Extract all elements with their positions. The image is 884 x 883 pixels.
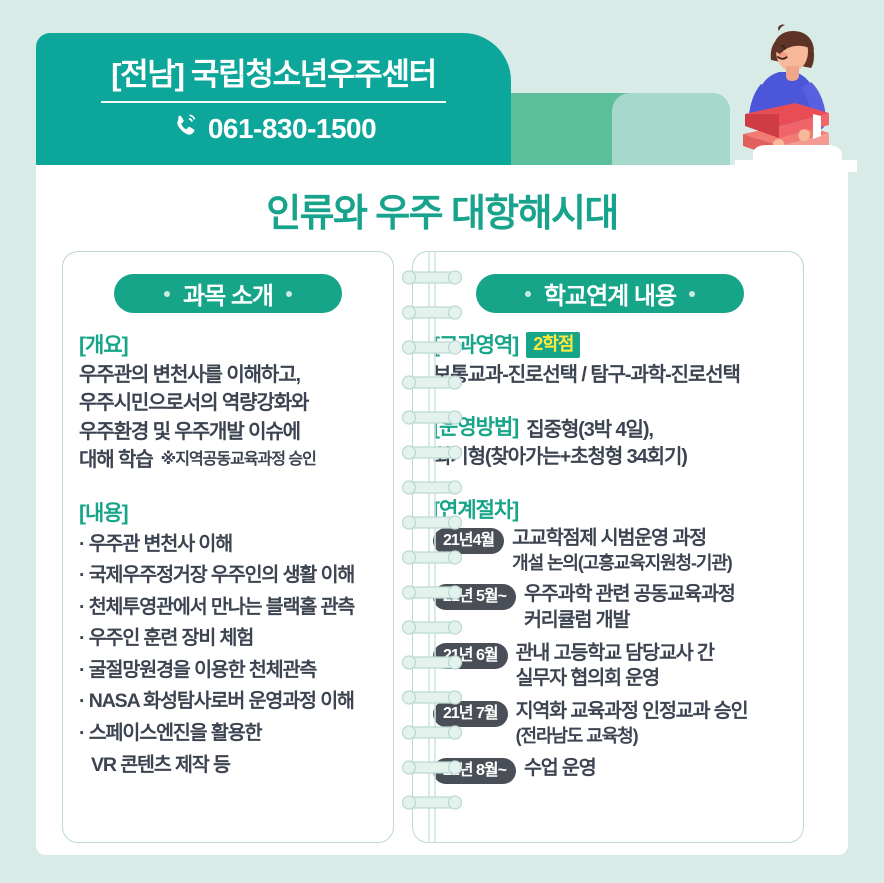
timeline-text-line-2: (전라남도 교육청) bbox=[516, 725, 748, 749]
overview-heading: [개요] bbox=[79, 329, 377, 359]
overview-line-4: 대해 학습 ※지역공동교육과정 승인 bbox=[79, 446, 377, 474]
overview-line-4-main: 대해 학습 bbox=[79, 446, 153, 474]
dot-icon-right bbox=[689, 291, 695, 297]
timeline-item: 21년4월 고교학점제 시범운영 과정 개설 논의(고흥교육지원청-기관) bbox=[433, 526, 787, 575]
panels-container: 과목 소개 [개요] 우주관의 변천사를 이해하고, 우주시민으로서의 역량강화… bbox=[62, 251, 822, 843]
timeline-date-badge: 21년 6월 bbox=[433, 643, 508, 669]
content-item-5: · 굴절망원경을 이용한 천체관측 bbox=[79, 655, 377, 687]
operation-value: 집중형(3박 4일), bbox=[526, 413, 653, 442]
dot-icon-right bbox=[286, 291, 292, 297]
timeline-date-badge: 21년 7월 bbox=[433, 701, 508, 727]
timeline-text: 관내 고등학교 담당교사 간 실무자 협의회 운영 bbox=[516, 641, 714, 692]
timeline-text-line-1: 고교학점제 시범운영 과정 bbox=[512, 526, 732, 552]
timeline-date-badge: 21년 5월~ bbox=[433, 584, 516, 610]
overview-line-2: 우주시민으로서의 역량강화와 bbox=[79, 389, 377, 417]
timeline-text: 지역화 교육과정 인정교과 승인 (전라남도 교육청) bbox=[516, 699, 748, 748]
timeline-date-badge: 21년4월 bbox=[433, 528, 504, 554]
content-item-4: · 우주인 훈련 장비 체험 bbox=[79, 623, 377, 655]
timeline-item: 21년 5월~ 우주과학 관련 공동교육과정 커리큘럼 개발 bbox=[433, 582, 787, 633]
phone-ringing-icon bbox=[171, 111, 201, 146]
subject-area-row: [교과영역] 2학점 bbox=[433, 329, 787, 361]
content-card: 인류와 우주 대항해시대 과목 소개 [개요] 우주관의 변천사를 이해하고, … bbox=[36, 165, 848, 855]
timeline-text: 수업 운영 bbox=[524, 756, 596, 782]
credit-badge: 2학점 bbox=[526, 332, 580, 358]
timeline-date-badge: 21년 8월~ bbox=[433, 758, 516, 784]
timeline-text: 고교학점제 시범운영 과정 개설 논의(고흥교육지원청-기관) bbox=[512, 526, 732, 575]
dot-icon-left bbox=[525, 291, 531, 297]
subject-area-detail: 보통교과-진로선택 / 탐구-과학-진로선택 bbox=[433, 361, 787, 389]
panel-subject-intro: 과목 소개 [개요] 우주관의 변천사를 이해하고, 우주시민으로서의 역량강화… bbox=[62, 251, 394, 843]
operation-row: [운영방법] 집중형(3박 4일), bbox=[433, 411, 787, 443]
process-heading: [연계절차] bbox=[433, 494, 787, 524]
phone-number: 061-830-1500 bbox=[208, 113, 376, 145]
operation-heading: [운영방법] bbox=[433, 411, 518, 441]
phone-row: 061-830-1500 bbox=[36, 111, 511, 146]
timeline-item: 21년 8월~ 수업 운영 bbox=[433, 756, 787, 784]
timeline-text-line-1: 관내 고등학교 담당교사 간 bbox=[516, 641, 714, 667]
content-item-3: · 천체투영관에서 만나는 블랙홀 관측 bbox=[79, 592, 377, 624]
operation-line-2: 회기형(찾아가는+초청형 34회기) bbox=[433, 443, 787, 471]
timeline-text: 우주과학 관련 공동교육과정 커리큘럼 개발 bbox=[524, 582, 735, 633]
subject-area-heading: [교과영역] bbox=[433, 329, 518, 359]
timeline-text-line-1: 우주과학 관련 공동교육과정 bbox=[524, 582, 735, 608]
overview-line-1: 우주관의 변천사를 이해하고, bbox=[79, 361, 377, 389]
content-item-2: · 국제우주정거장 우주인의 생활 이해 bbox=[79, 560, 377, 592]
content-item-6: · NASA 화성탐사로버 운영과정 이해 bbox=[79, 686, 377, 718]
student-carrying-books-illustration bbox=[735, 22, 857, 177]
badge-school-linkage: 학교연계 내용 bbox=[476, 274, 744, 313]
poster-root: [전남] 국립청소년우주센터 061-830-1500 bbox=[0, 0, 884, 883]
content-item-1: · 우주관 변천사 이해 bbox=[79, 529, 377, 561]
header-banner: [전남] 국립청소년우주센터 061-830-1500 bbox=[36, 33, 511, 165]
timeline-item: 21년 7월 지역화 교육과정 인정교과 승인 (전라남도 교육청) bbox=[433, 699, 787, 748]
organization-name: [전남] 국립청소년우주센터 bbox=[36, 43, 511, 94]
timeline-text-line-2: 개설 논의(고흥교육지원청-기관) bbox=[512, 552, 732, 576]
content-heading: [내용] bbox=[79, 497, 377, 527]
overview-line-3: 우주환경 및 우주개발 이슈에 bbox=[79, 418, 377, 446]
content-item-7-continued: VR 콘텐츠 제작 등 bbox=[79, 750, 377, 782]
timeline-text-line-1: 수업 운영 bbox=[524, 756, 596, 782]
page-title: 인류와 우주 대항해시대 bbox=[36, 165, 848, 237]
timeline-text-line-1: 지역화 교육과정 인정교과 승인 bbox=[516, 699, 748, 725]
timeline-text-line-2: 실무자 협의회 운영 bbox=[516, 666, 714, 692]
spacer bbox=[433, 389, 787, 411]
overview-approval-note: ※지역공동교육과정 승인 bbox=[161, 449, 316, 472]
spacer bbox=[79, 475, 377, 497]
banner-divider bbox=[101, 101, 446, 103]
badge-subject-intro: 과목 소개 bbox=[114, 274, 342, 313]
dot-icon-left bbox=[164, 291, 170, 297]
decorative-bar-light bbox=[612, 93, 730, 165]
panel-school-linkage: 학교연계 내용 [교과영역] 2학점 보통교과-진로선택 / 탐구-과학-진로선… bbox=[412, 251, 804, 843]
badge-school-linkage-label: 학교연계 내용 bbox=[544, 276, 676, 311]
badge-subject-intro-label: 과목 소개 bbox=[183, 276, 273, 311]
content-item-7: · 스페이스엔진을 활용한 bbox=[79, 718, 377, 750]
timeline-text-line-2: 커리큘럼 개발 bbox=[524, 608, 735, 634]
spacer bbox=[433, 472, 787, 494]
timeline-item: 21년 6월 관내 고등학교 담당교사 간 실무자 협의회 운영 bbox=[433, 641, 787, 692]
linkage-timeline: 21년4월 고교학점제 시범운영 과정 개설 논의(고흥교육지원청-기관) 21… bbox=[433, 526, 787, 784]
